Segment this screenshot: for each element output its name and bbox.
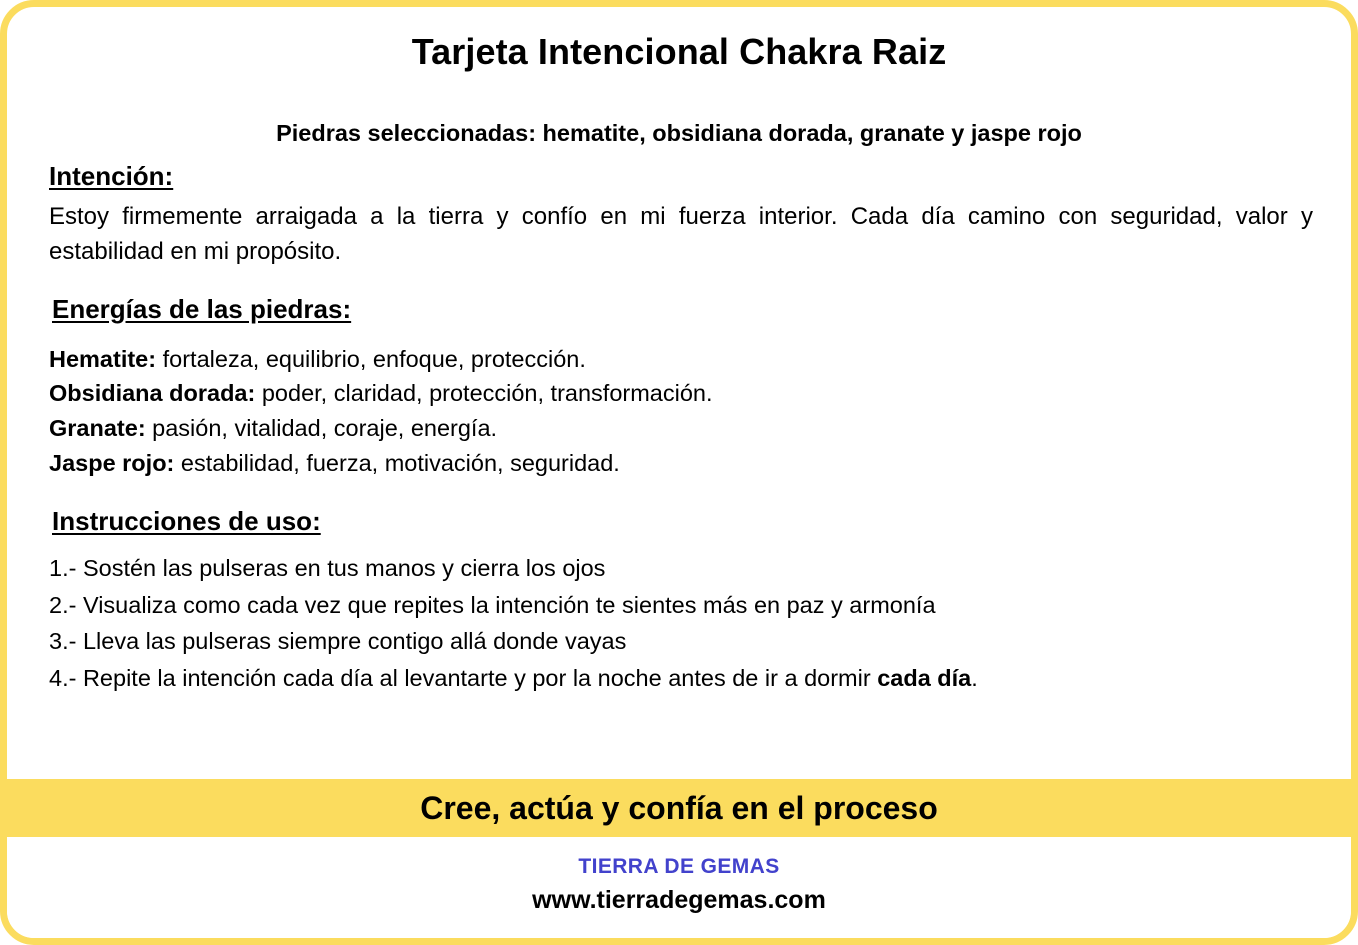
list-item: Obsidiana dorada: poder, claridad, prote… [49, 376, 1333, 411]
intention-card: Tarjeta Intencional Chakra Raiz Piedras … [0, 0, 1358, 945]
list-item: 4.- Repite la intención cada día al leva… [49, 660, 1313, 696]
step-text: 1.- Sostén las pulseras en tus manos y c… [49, 555, 605, 581]
step-text: 2.- Visualiza como cada vez que repites … [49, 592, 936, 618]
stone-energies-list: Hematite: fortaleza, equilibrio, enfoque… [25, 342, 1333, 481]
list-item: 3.- Lleva las pulseras siempre contigo a… [49, 623, 1313, 659]
section-heading-intention: Intención: [49, 162, 1333, 192]
list-item: 1.- Sostén las pulseras en tus manos y c… [49, 550, 1313, 586]
stone-name: Obsidiana dorada: [49, 380, 255, 406]
stone-description: poder, claridad, protección, transformac… [262, 380, 713, 406]
section-heading-instructions: Instrucciones de uso: [52, 507, 1333, 537]
stone-description: fortaleza, equilibrio, enfoque, protecci… [163, 346, 586, 372]
affirmation-banner: Cree, actúa y confía en el proceso [7, 779, 1351, 837]
instructions-list: 1.- Sostén las pulseras en tus manos y c… [25, 550, 1333, 696]
brand-name: TIERRA DE GEMAS [7, 853, 1351, 880]
step-emphasis: cada día [877, 665, 971, 691]
stone-name: Hematite: [49, 346, 156, 372]
selected-stones-subtitle: Piedras seleccionadas: hematite, obsidia… [25, 119, 1333, 147]
step-text: 4.- Repite la intención cada día al leva… [49, 665, 877, 691]
stone-name: Granate: [49, 415, 146, 441]
stone-description: pasión, vitalidad, coraje, energía. [152, 415, 497, 441]
page-title: Tarjeta Intencional Chakra Raiz [25, 31, 1333, 72]
list-item: 2.- Visualiza como cada vez que repites … [49, 587, 1313, 623]
card-footer: TIERRA DE GEMAS www.tierradegemas.com [7, 837, 1351, 938]
step-text: 3.- Lleva las pulseras siempre contigo a… [49, 628, 626, 654]
list-item: Granate: pasión, vitalidad, coraje, ener… [49, 411, 1333, 446]
list-item: Hematite: fortaleza, equilibrio, enfoque… [49, 342, 1333, 377]
section-heading-stone-energies: Energías de las piedras: [52, 295, 1333, 325]
list-item: Jaspe rojo: estabilidad, fuerza, motivac… [49, 446, 1333, 481]
step-tail: . [971, 665, 978, 691]
website-url: www.tierradegemas.com [7, 884, 1351, 917]
stone-description: estabilidad, fuerza, motivación, segurid… [181, 450, 620, 476]
affirmation-banner-text: Cree, actúa y confía en el proceso [420, 792, 938, 824]
card-content: Tarjeta Intencional Chakra Raiz Piedras … [7, 31, 1351, 803]
stone-name: Jaspe rojo: [49, 450, 174, 476]
intention-text: Estoy firmemente arraigada a la tierra y… [49, 200, 1313, 268]
